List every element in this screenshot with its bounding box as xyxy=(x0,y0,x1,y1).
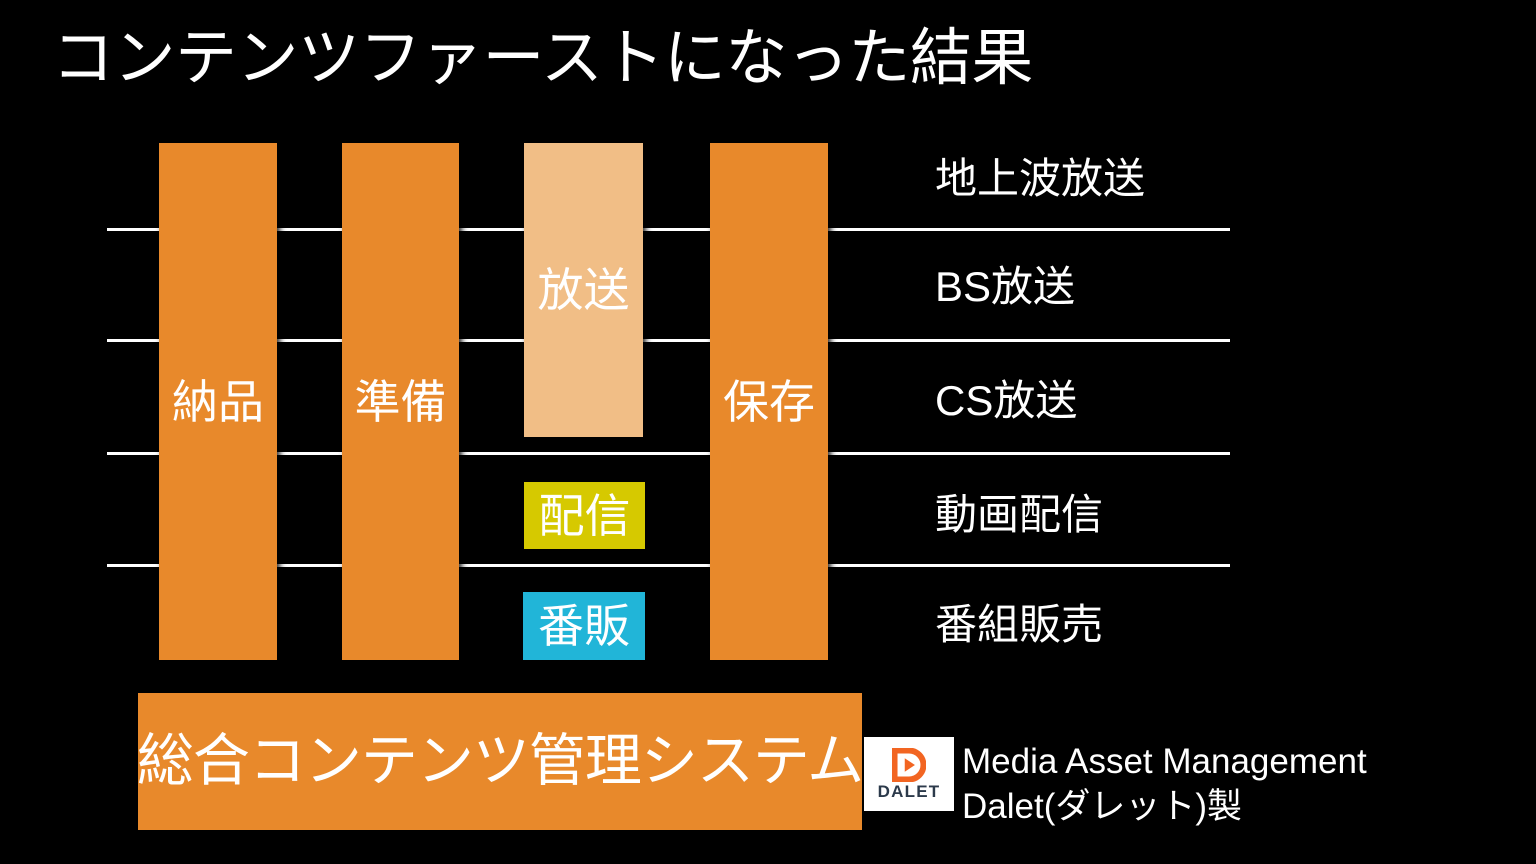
page-title: コンテンツファーストになった結果 xyxy=(52,24,1033,93)
process-bar-junbi[interactable]: 準備 xyxy=(342,143,459,660)
output-block-banhan[interactable]: 番販 xyxy=(523,592,645,660)
process-bar-nouhin-label: 納品 xyxy=(172,379,264,425)
slide-canvas: コンテンツファーストになった結果 納品 準備 放送 配信 番販 保存 地上波放送… xyxy=(0,0,1536,864)
channel-label-cs: CS放送 xyxy=(935,380,1077,422)
process-bar-nouhin[interactable]: 納品 xyxy=(159,143,277,660)
output-block-banhan-label: 番販 xyxy=(538,603,630,649)
dalet-d-play-icon xyxy=(892,748,926,782)
process-bar-hozon-label: 保存 xyxy=(723,379,815,425)
channel-label-bs: BS放送 xyxy=(935,266,1075,308)
vendor-caption-line2: Dalet(ダレット)製 xyxy=(962,785,1367,830)
dalet-wordmark: DALET xyxy=(878,783,941,800)
output-block-haishin[interactable]: 配信 xyxy=(524,482,645,549)
channel-label-terrestrial: 地上波放送 xyxy=(935,158,1145,200)
channel-label-program-sales: 番組販売 xyxy=(935,604,1103,646)
dalet-logo: DALET xyxy=(864,737,954,811)
system-bar-label: 総合コンテンツ管理システム xyxy=(137,733,863,790)
channel-label-video-delivery: 動画配信 xyxy=(935,494,1103,536)
vendor-caption-line1: Media Asset Management xyxy=(962,740,1367,785)
output-block-housou-label: 放送 xyxy=(538,267,630,313)
output-block-housou[interactable]: 放送 xyxy=(524,143,643,437)
process-bar-junbi-label: 準備 xyxy=(355,379,447,425)
system-bar[interactable]: 総合コンテンツ管理システム xyxy=(138,693,862,830)
vendor-caption: Media Asset Management Dalet(ダレット)製 xyxy=(962,740,1367,830)
process-bar-hozon[interactable]: 保存 xyxy=(710,143,828,660)
output-block-haishin-label: 配信 xyxy=(539,493,631,539)
